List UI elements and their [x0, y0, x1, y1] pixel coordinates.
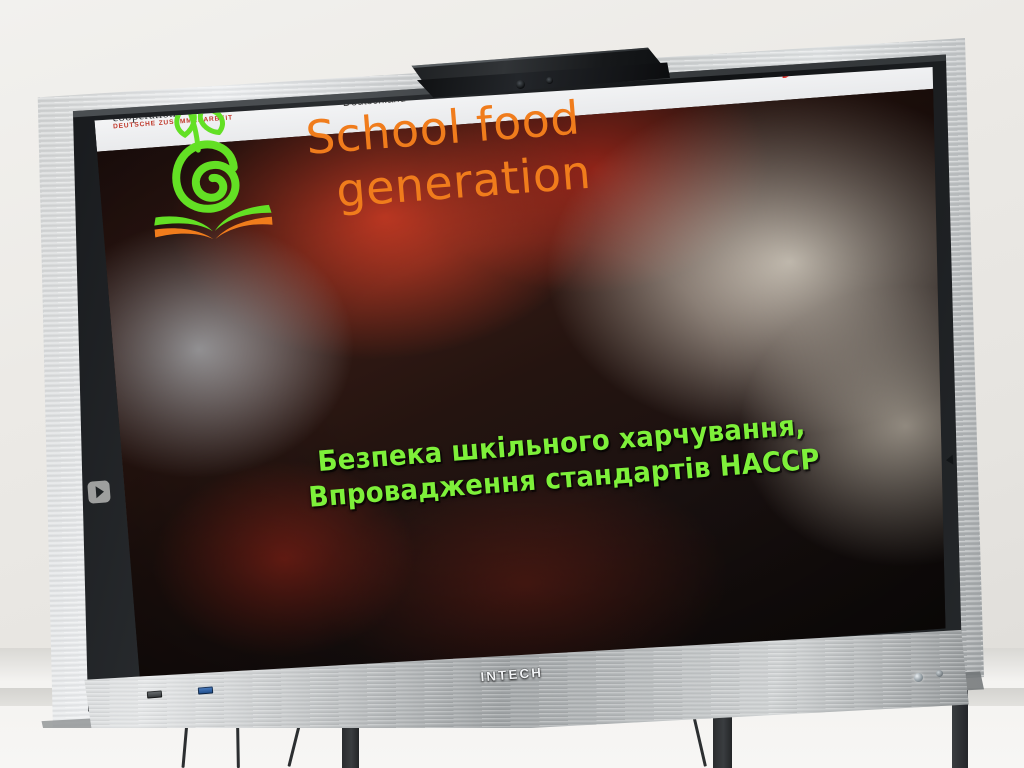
- usb-port-icon[interactable]: [147, 690, 162, 698]
- slide-subtitle: Безпека шкільного харчування, Впроваджен…: [208, 401, 917, 522]
- usb3-port-icon[interactable]: [197, 686, 212, 694]
- slide-content: School food generation Безпека шкільного…: [89, 38, 984, 689]
- triangle-right-icon: [96, 486, 105, 499]
- display-screen[interactable]: german cooperation DEUTSCHE ZUSAMMENARBE…: [32, 38, 984, 728]
- presentation-slide[interactable]: german cooperation DEUTSCHE ZUSAMMENARBE…: [89, 38, 984, 689]
- prev-slide-arrow-icon[interactable]: [942, 453, 957, 468]
- camera-sensor-bar: [395, 46, 670, 101]
- interactive-display[interactable]: german cooperation DEUTSCHE ZUSAMMENARBE…: [32, 38, 984, 728]
- power-button[interactable]: [913, 672, 923, 682]
- sensor-lens-icon: [546, 77, 553, 84]
- next-slide-arrow-icon[interactable]: [87, 480, 111, 504]
- slide-title: School food generation: [304, 90, 593, 219]
- triangle-left-icon: [945, 455, 953, 466]
